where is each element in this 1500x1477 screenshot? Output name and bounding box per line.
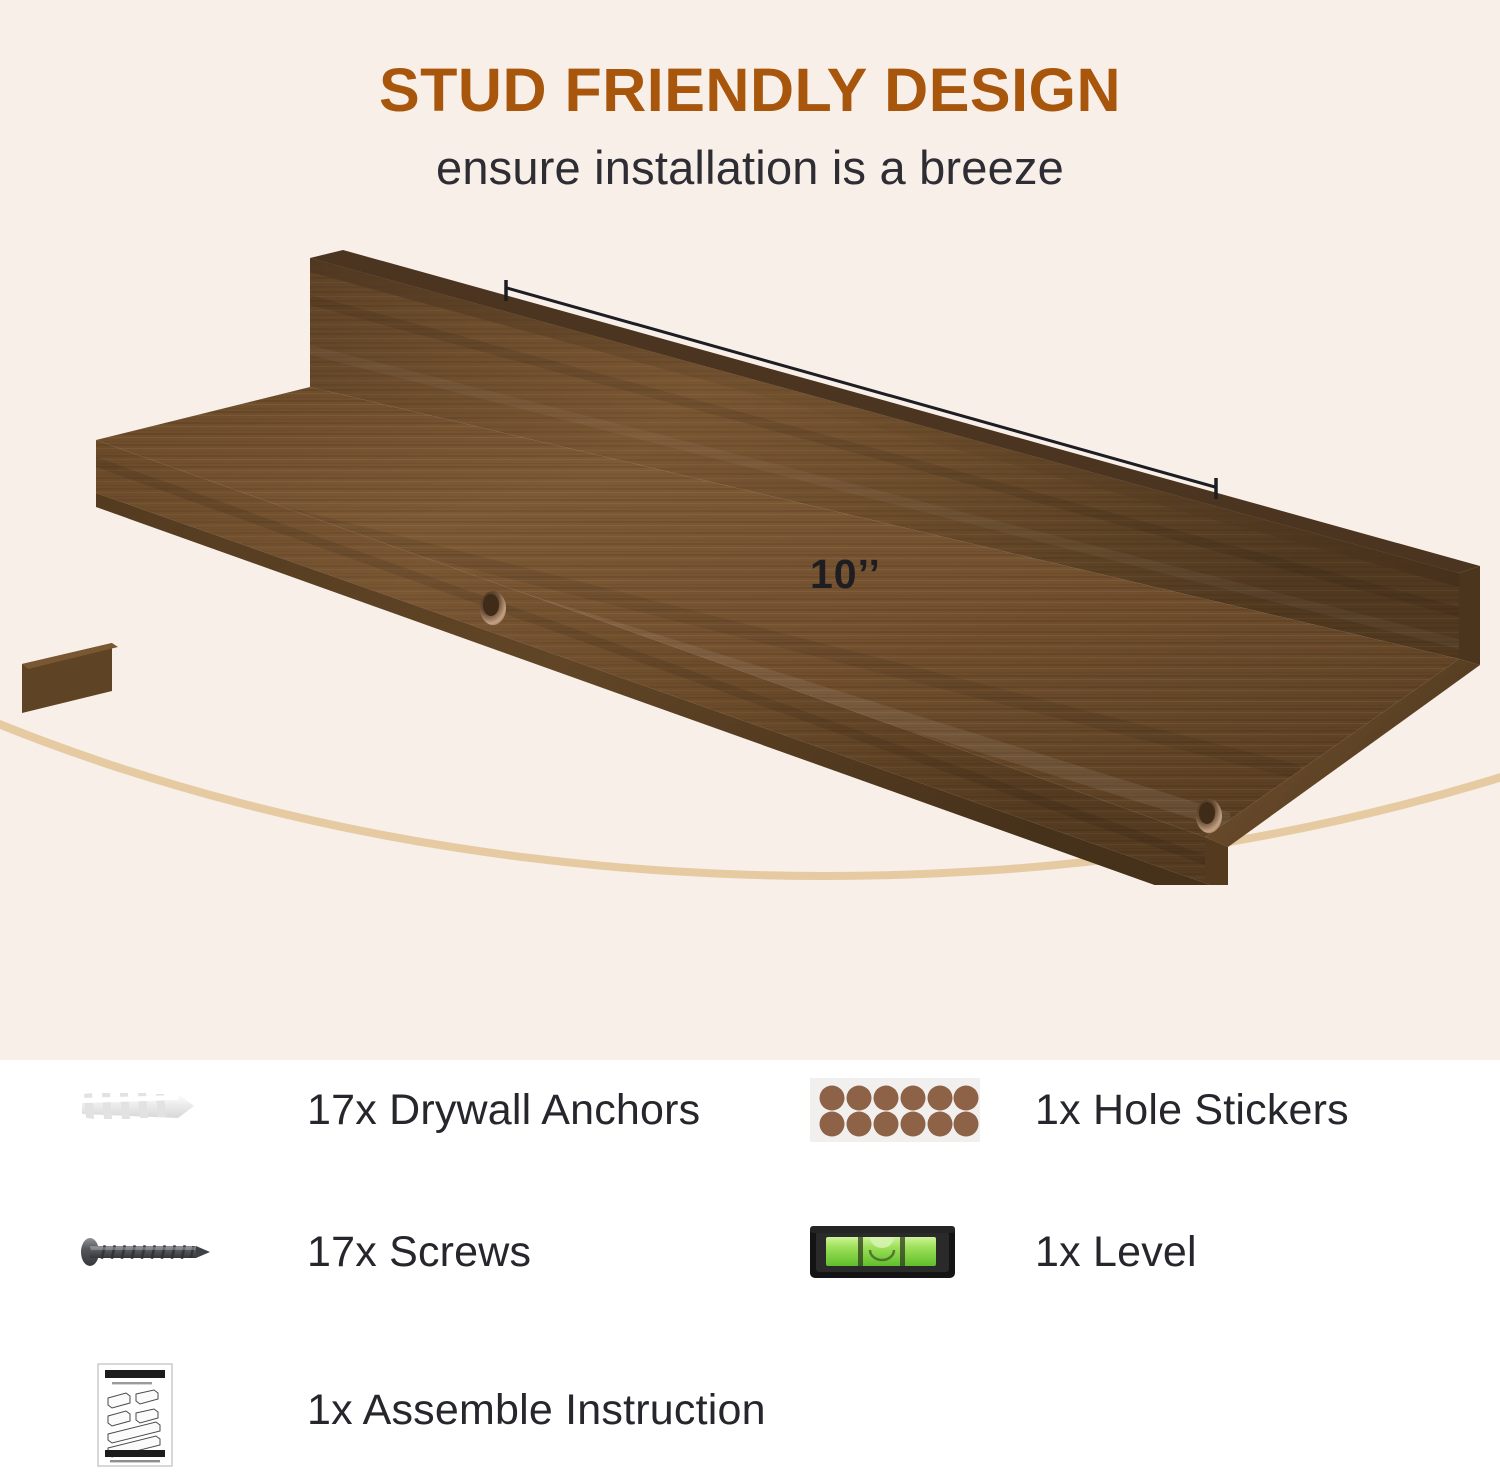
parts-list: 17x Drywall Anchors 1x Hole Sticker [0, 1062, 1500, 1477]
list-item-label: 17x Screws [307, 1228, 531, 1277]
list-item: 1x Hole Stickers [800, 1062, 1349, 1158]
list-item-label: 1x Assemble Instruction [307, 1386, 766, 1435]
header-block: STUD FRIENDLY DESIGN ensure installation… [0, 58, 1500, 195]
dimension-line [507, 288, 1215, 487]
list-item: 1x Level [800, 1204, 1197, 1300]
list-item-label: 1x Level [1035, 1228, 1197, 1277]
hole-stickers-icon [800, 1062, 995, 1158]
list-item: 17x Screws [72, 1204, 531, 1300]
dimension-callout: 10’’ [0, 235, 1500, 635]
list-item: 1x Assemble Instruction [72, 1362, 766, 1458]
infographic-canvas: STUD FRIENDLY DESIGN ensure installation… [0, 0, 1500, 1477]
screw-hole-right [1196, 799, 1222, 833]
list-item-label: 1x Hole Stickers [1035, 1086, 1349, 1135]
screw-icon [72, 1204, 267, 1300]
page-title: STUD FRIENDLY DESIGN [0, 58, 1500, 124]
dimension-svg [0, 235, 1500, 635]
drywall-anchor-icon [72, 1062, 267, 1158]
instruction-booklet-icon [72, 1362, 267, 1458]
list-item-label: 17x Drywall Anchors [307, 1086, 700, 1135]
list-item: 17x Drywall Anchors [72, 1062, 700, 1158]
dimension-label: 10’’ [810, 551, 881, 598]
page-subtitle: ensure installation is a breeze [0, 140, 1500, 195]
bubble-level-icon [800, 1204, 995, 1300]
